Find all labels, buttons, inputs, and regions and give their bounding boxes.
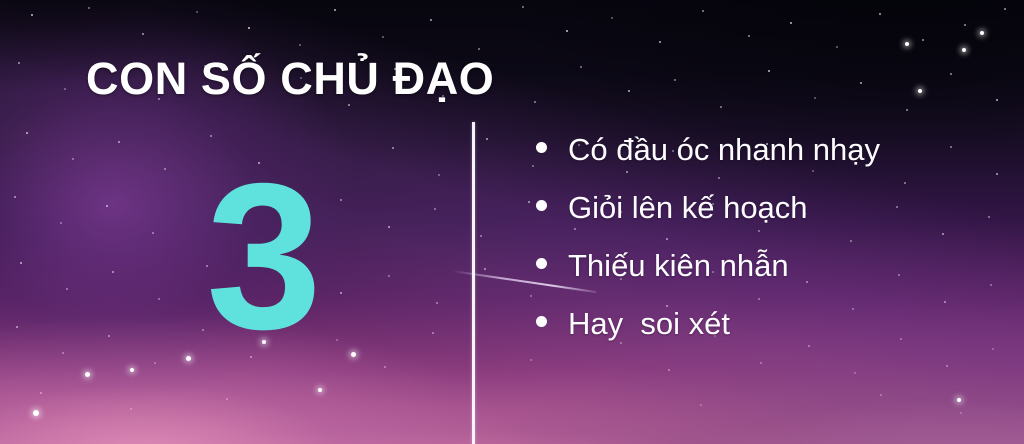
bullet-dot-icon: [536, 142, 547, 153]
list-item: Giỏi lên kế hoạch: [536, 192, 1006, 250]
bullet-dot-icon: [536, 258, 547, 269]
trait-label: Thiếu kiên nhẫn: [568, 250, 789, 281]
bright-star: [186, 356, 191, 361]
bright-star: [85, 372, 90, 377]
bright-star: [318, 388, 322, 392]
bright-star: [351, 352, 356, 357]
list-item: Thiếu kiên nhẫn: [536, 250, 1006, 308]
bright-star: [33, 410, 39, 416]
bright-star: [957, 398, 961, 402]
bullet-dot-icon: [536, 316, 547, 327]
list-item: Hay soi xét: [536, 308, 1006, 366]
bright-star: [905, 42, 909, 46]
bright-star: [918, 89, 922, 93]
bright-star: [130, 368, 134, 372]
life-path-number: 3: [196, 168, 330, 347]
bright-star: [962, 48, 966, 52]
numerology-slide: CON SỐ CHỦ ĐẠO 3 Có đầu óc nhanh nhạy Gi…: [0, 0, 1024, 444]
page-title: CON SỐ CHỦ ĐẠO: [86, 56, 494, 101]
trait-label: Có đầu óc nhanh nhạy: [568, 134, 880, 165]
bright-star: [980, 31, 984, 35]
vertical-divider: [472, 122, 475, 444]
trait-label: Giỏi lên kế hoạch: [568, 192, 808, 223]
trait-list: Có đầu óc nhanh nhạy Giỏi lên kế hoạch T…: [536, 134, 1006, 366]
list-item: Có đầu óc nhanh nhạy: [536, 134, 1006, 192]
trait-label: Hay soi xét: [568, 308, 730, 339]
bullet-dot-icon: [536, 200, 547, 211]
